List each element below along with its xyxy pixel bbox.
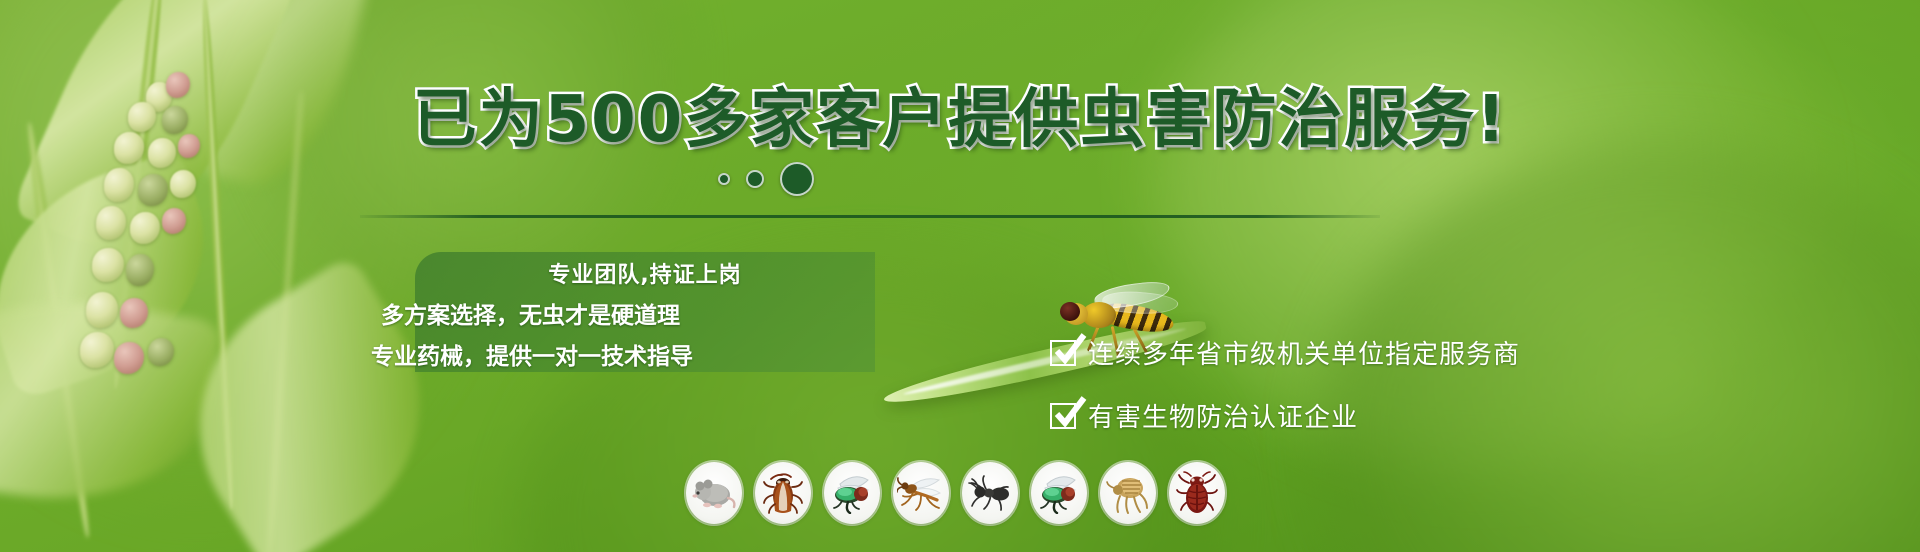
pest-icon-flea [1100, 462, 1156, 524]
divider [360, 215, 1380, 218]
pest-control-banner: 已为500多家客户提供虫害防治服务! 专业团队,持证上岗 多方案选择，无虫才是硬… [0, 0, 1920, 552]
credentials-list: 连续多年省市级机关单位指定服务商 有害生物防治认证企业 [1050, 334, 1520, 434]
list-item: 连续多年省市级机关单位指定服务商 [1050, 334, 1520, 371]
pest-icon-row [686, 462, 1225, 524]
list-item: 有害生物防治认证企业 [1050, 397, 1520, 434]
checkbox-checked-icon [1050, 403, 1076, 429]
slogan-panel: 专业团队,持证上岗 多方案选择，无虫才是硬道理 专业药械，提供一对一技术指导 [415, 252, 875, 372]
list-item-label: 连续多年省市级机关单位指定服务商 [1088, 334, 1520, 371]
decorative-dots [718, 162, 814, 196]
slogan-line-2: 多方案选择，无虫才是硬道理 [381, 296, 857, 330]
pest-icon-bedbug [1169, 462, 1225, 524]
slogan-line-1: 专业团队,持证上岗 [433, 257, 857, 289]
page-title: 已为500多家客户提供虫害防治服务! [0, 68, 1920, 160]
pest-icon-mosquito [893, 462, 949, 524]
dot-medium-icon [746, 170, 764, 188]
pest-icon-mouse [686, 462, 742, 524]
checkbox-checked-icon [1050, 340, 1076, 366]
pest-icon-fly [824, 462, 880, 524]
page-title-text: 已为500多家客户提供虫害防治服务! [413, 68, 1508, 160]
pest-icon-fly-2 [1031, 462, 1087, 524]
pest-icon-ant [962, 462, 1018, 524]
slogan-line-3: 专业药械，提供一对一技术指导 [371, 337, 857, 371]
list-item-label: 有害生物防治认证企业 [1088, 397, 1358, 434]
pest-icon-cockroach [755, 462, 811, 524]
dot-large-icon [780, 162, 814, 196]
dot-small-icon [718, 173, 730, 185]
